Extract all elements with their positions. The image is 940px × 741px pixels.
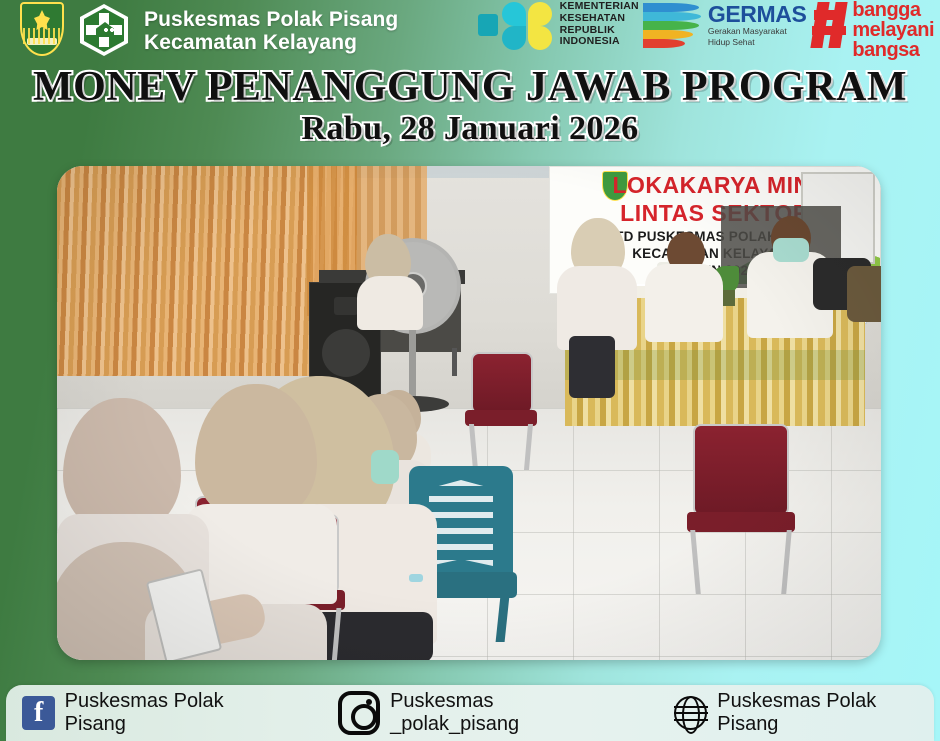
- germas-wordmark: GERMAS Gerakan Masyarakat Hidup Sehat: [708, 1, 807, 48]
- kemenkes-line-2: KESEHATAN: [560, 13, 639, 25]
- social-footer-bar: Puskesmas Polak Pisang Puskesmas _polak_…: [6, 685, 934, 741]
- germas-logo: GERMAS Gerakan Masyarakat Hidup Sehat: [643, 0, 807, 53]
- kemenkes-mark-icon: [478, 0, 556, 52]
- germas-title: GERMAS: [708, 3, 807, 26]
- bmb-line-2: melayani: [852, 20, 934, 40]
- org-line-1: Puskesmas Polak Pisang: [144, 9, 398, 32]
- kemenkes-line-1: KEMENTERIAN: [560, 1, 639, 13]
- organization-name: Puskesmas Polak Pisang Kecamatan Kelayan…: [144, 6, 398, 54]
- facebook-icon[interactable]: [22, 696, 55, 730]
- facebook-label: Puskesmas Polak Pisang: [65, 690, 282, 736]
- bmb-line-1: bangga: [852, 0, 934, 20]
- instagram-label: Puskesmas _polak_pisang: [390, 690, 618, 736]
- photo-vignette: [57, 166, 881, 660]
- poster-title-block: MONEV PENANGGUNG JAWAB PROGRAM Rabu, 28 …: [0, 66, 940, 147]
- bangga-melayani-bangsa-logo: bangga melayani bangsa: [810, 0, 934, 60]
- regency-emblem-icon: [14, 2, 70, 58]
- website-label: Puskesmas Polak Pisang: [717, 690, 934, 736]
- bmb-mark-icon: [810, 0, 850, 50]
- header-right-logos: KEMENTERIAN KESEHATAN REPUBLIK INDONESIA…: [478, 0, 940, 60]
- germas-subtitle-2: Hidup Sehat: [708, 38, 807, 48]
- footer-item-facebook[interactable]: Puskesmas Polak Pisang: [22, 690, 282, 736]
- bmb-wordmark: bangga melayani bangsa: [852, 0, 934, 60]
- poster-header: Puskesmas Polak Pisang Kecamatan Kelayan…: [0, 0, 940, 60]
- puskesmas-cross-icon: [78, 2, 130, 58]
- kemenkes-wordmark: KEMENTERIAN KESEHATAN REPUBLIK INDONESIA: [560, 0, 639, 48]
- germas-swoosh-icon: [643, 1, 705, 53]
- footer-item-website[interactable]: Puskesmas Polak Pisang: [674, 690, 934, 736]
- bmb-line-3: bangsa: [852, 40, 934, 60]
- kemenkes-logo: KEMENTERIAN KESEHATAN REPUBLIK INDONESIA: [478, 0, 639, 52]
- org-line-2: Kecamatan Kelayang: [144, 32, 398, 55]
- page-subtitle-date: Rabu, 28 Januari 2026: [0, 111, 940, 147]
- footer-item-instagram[interactable]: Puskesmas _polak_pisang: [338, 690, 619, 736]
- instagram-icon[interactable]: [338, 691, 381, 735]
- activity-photo: LOKAKARYA MINI LINTAS SEKTOR UPTD PUSKES…: [57, 166, 881, 660]
- website-globe-icon[interactable]: [674, 696, 707, 730]
- germas-subtitle-1: Gerakan Masyarakat: [708, 27, 807, 37]
- header-left-branding: Puskesmas Polak Pisang Kecamatan Kelayan…: [0, 0, 398, 58]
- page-title: MONEV PENANGGUNG JAWAB PROGRAM: [0, 66, 940, 109]
- kemenkes-line-4: INDONESIA: [560, 36, 639, 48]
